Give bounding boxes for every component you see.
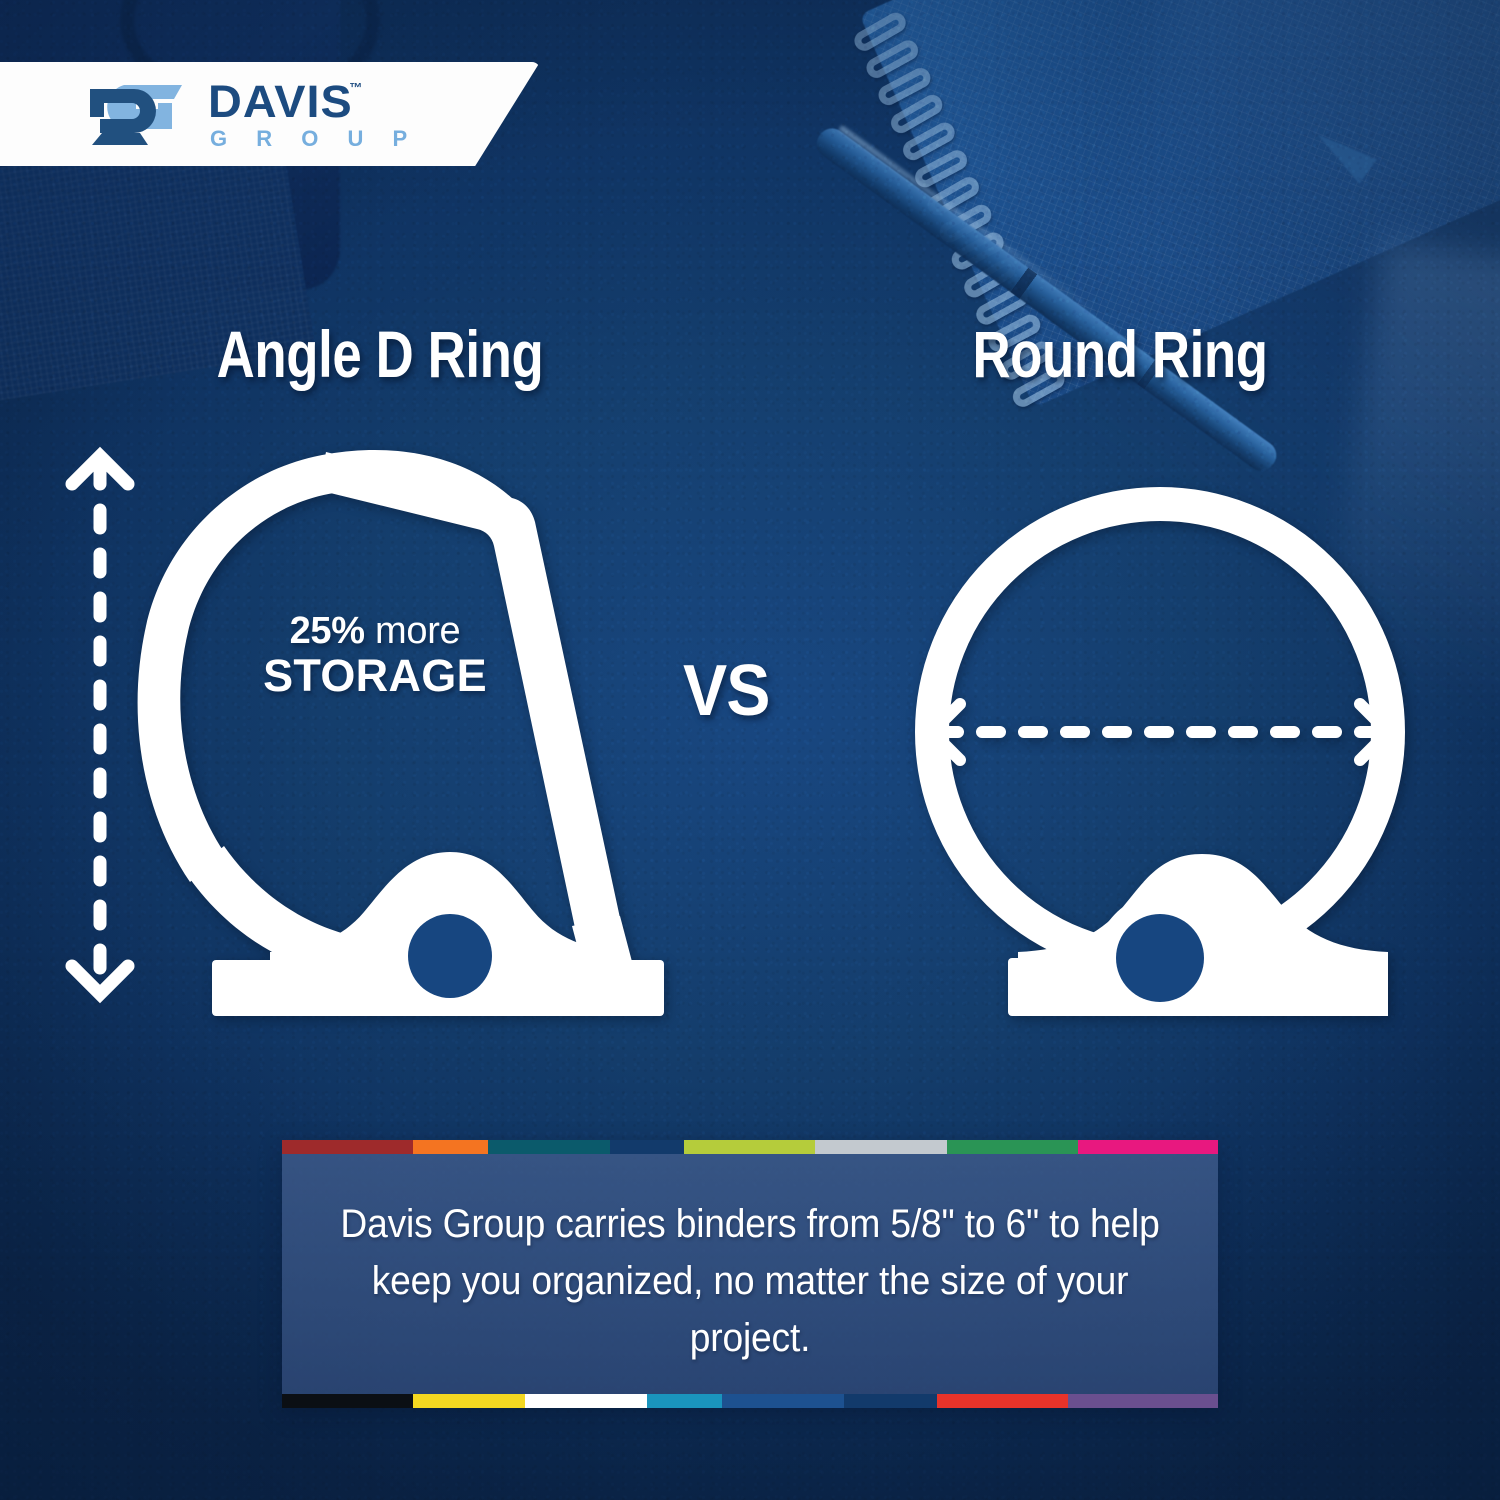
brand-wordmark: DAVIS ™ G R O U P: [208, 79, 419, 150]
infographic-canvas: DAVIS ™ G R O U P Angle D Ring Round Rin…: [0, 0, 1500, 1500]
color-bar-segment: [282, 1394, 413, 1408]
color-bar-segment: [413, 1394, 525, 1408]
right-column-heading: Round Ring: [816, 316, 1424, 392]
color-bar-segment: [815, 1140, 946, 1154]
horizontal-double-arrow-icon: [932, 704, 1388, 760]
left-column-heading: Angle D Ring: [76, 316, 684, 392]
round-ring-icon: [910, 440, 1410, 1020]
footer-panel: Davis Group carries binders from 5/8" to…: [282, 1140, 1218, 1408]
footer-top-color-bar: [282, 1140, 1218, 1154]
angle-d-ring-icon: [120, 440, 690, 1020]
storage-label: STORAGE: [225, 653, 525, 699]
dg-monogram-icon: [86, 83, 186, 145]
footer-panel-text: Davis Group carries binders from 5/8" to…: [315, 1196, 1185, 1366]
storage-callout: 25% more STORAGE: [225, 612, 525, 699]
footer-bottom-color-bar: [282, 1394, 1218, 1408]
color-bar-segment: [947, 1140, 1078, 1154]
color-bar-segment: [525, 1394, 647, 1408]
color-bar-segment: [413, 1140, 488, 1154]
color-bar-segment: [1078, 1140, 1218, 1154]
color-bar-segment: [722, 1394, 844, 1408]
color-bar-segment: [844, 1394, 938, 1408]
brand-name: DAVIS: [208, 79, 353, 124]
brand-subname: G R O U P: [210, 128, 419, 150]
versus-label: VS: [683, 650, 770, 732]
color-bar-segment: [684, 1140, 815, 1154]
color-bar-segment: [1068, 1394, 1218, 1408]
color-bar-segment: [282, 1140, 413, 1154]
color-bar-segment: [647, 1394, 722, 1408]
color-bar-segment: [937, 1394, 1068, 1408]
storage-percent: 25%: [290, 610, 365, 652]
brand-logo-banner[interactable]: DAVIS ™ G R O U P: [0, 62, 540, 166]
color-bar-segment: [610, 1140, 685, 1154]
storage-more-label: more: [365, 610, 461, 652]
color-bar-segment: [488, 1140, 610, 1154]
